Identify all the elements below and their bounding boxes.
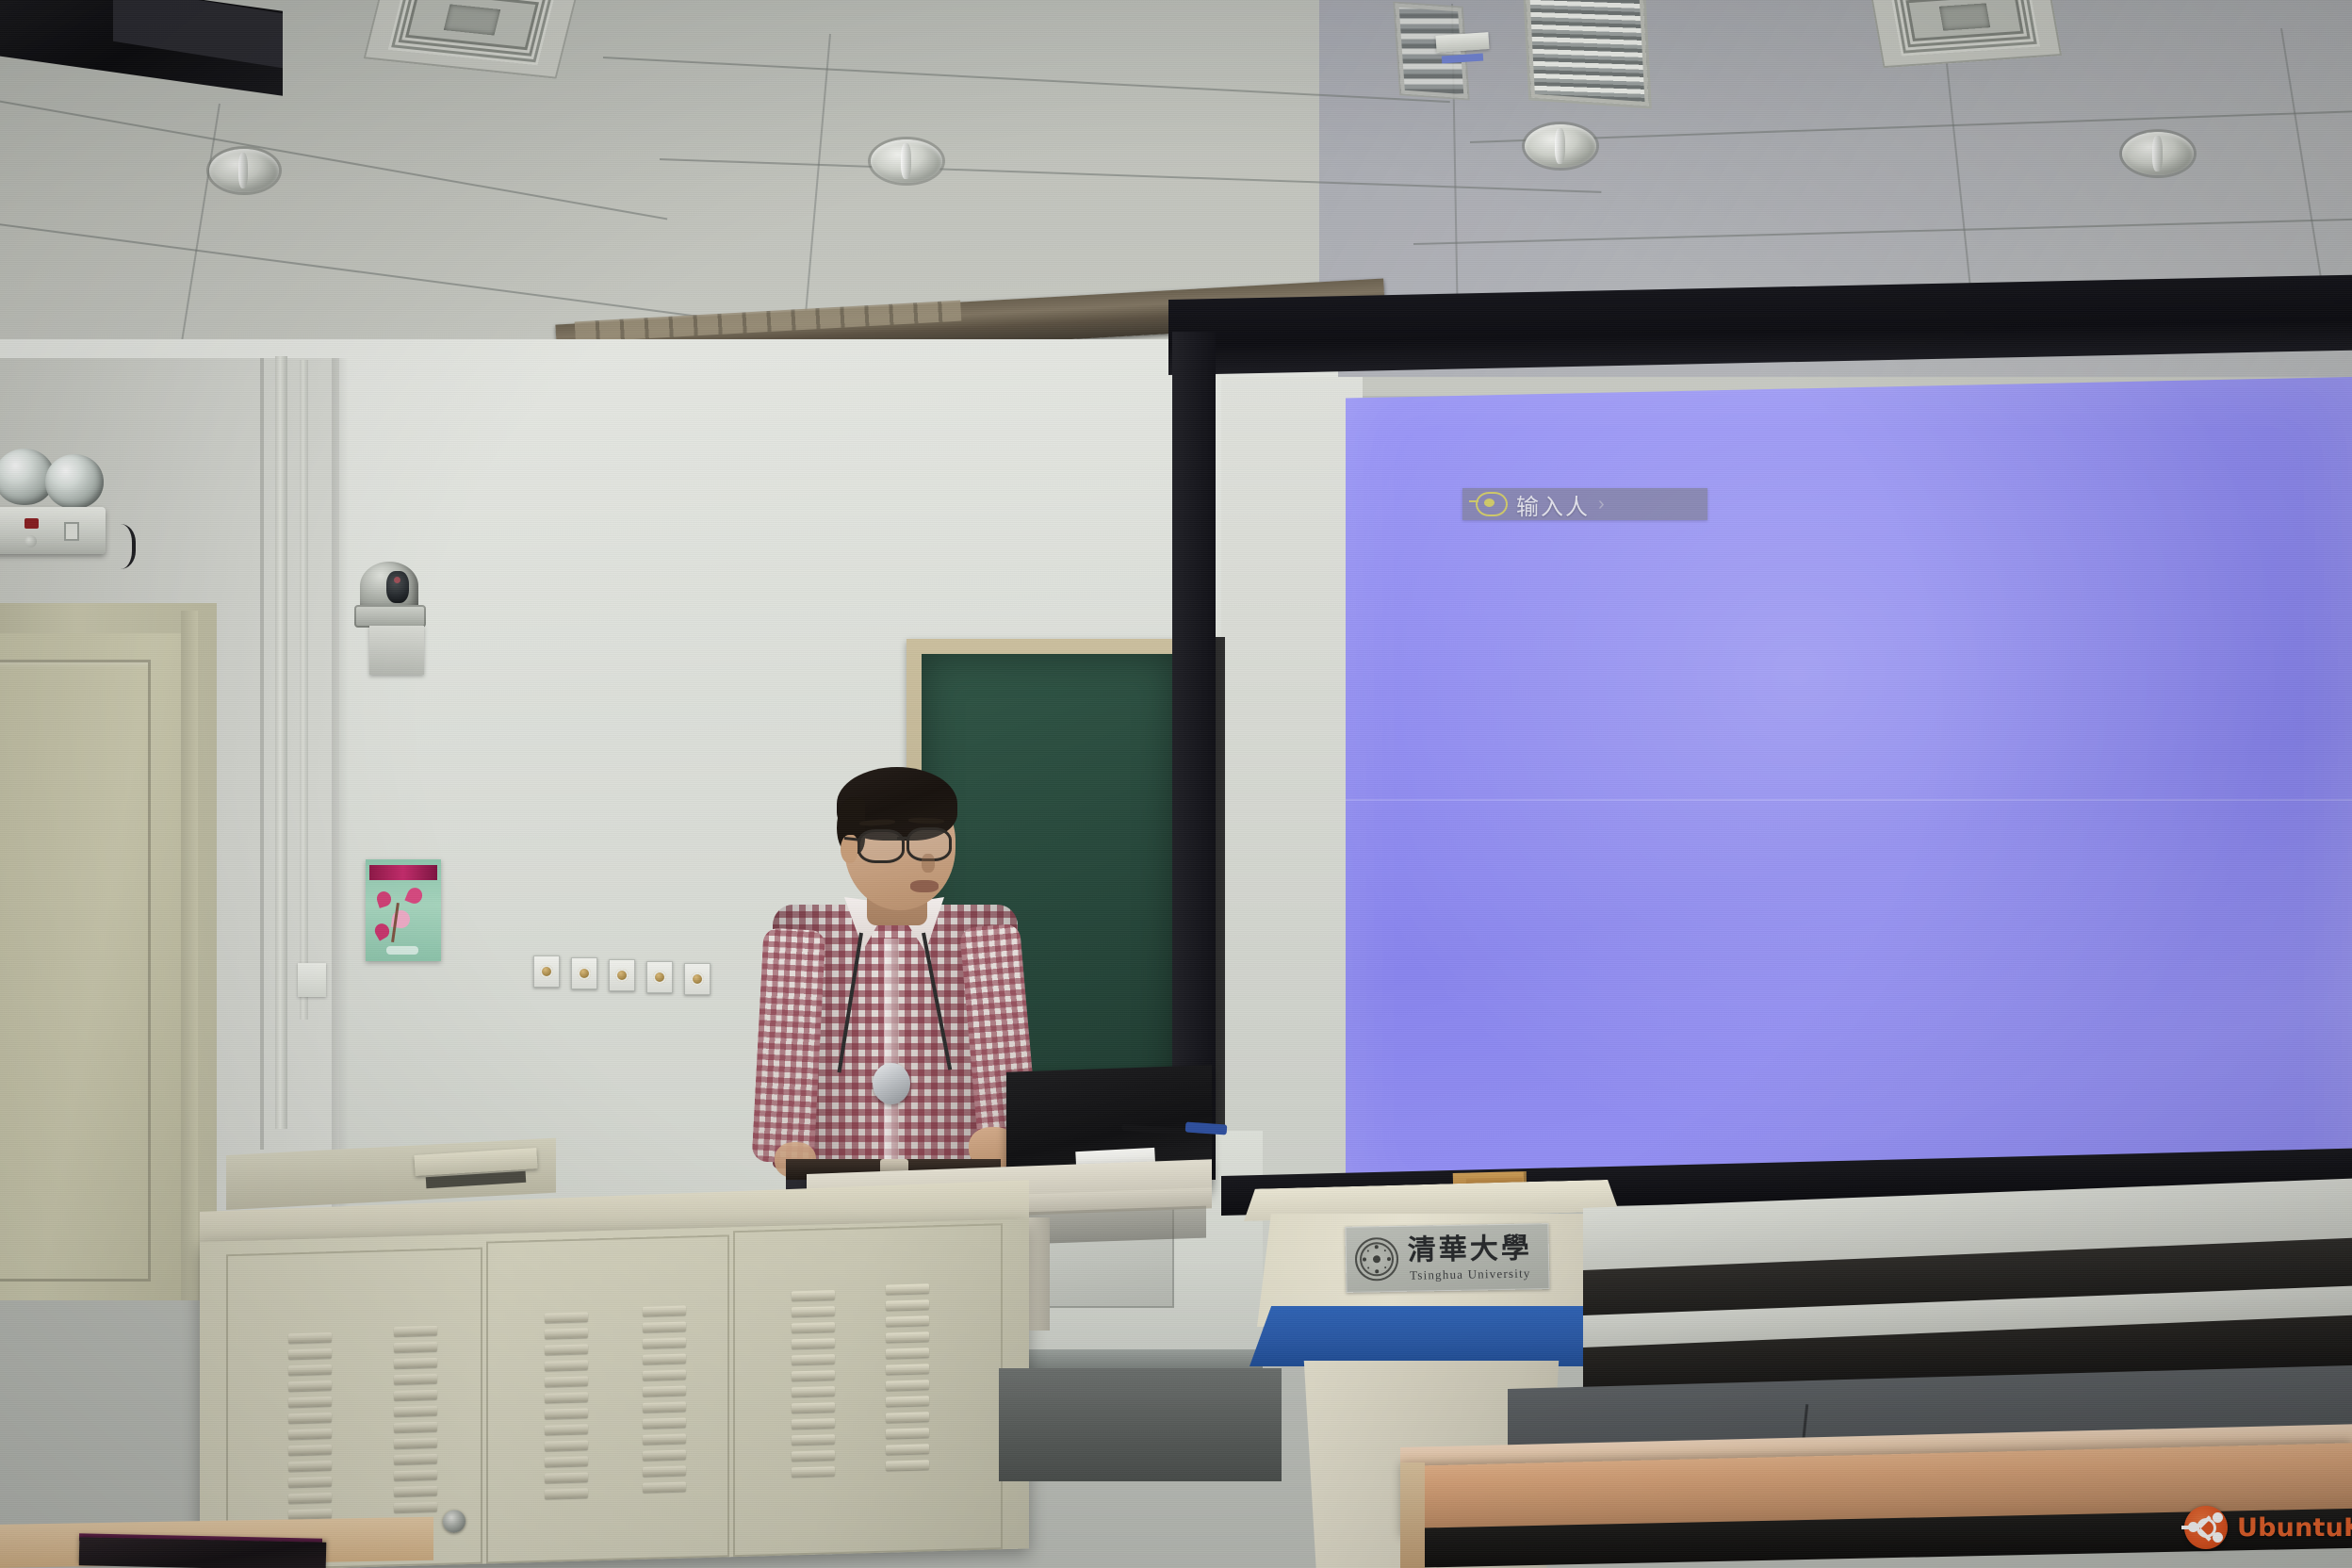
ptz-camera-wall-bracket <box>369 626 424 675</box>
cabinet-vent-column <box>545 1312 588 1498</box>
poster-flower <box>404 886 424 906</box>
poster-flower <box>372 921 392 940</box>
ime-status-bar[interactable]: 输入人 › <box>1462 488 1707 520</box>
tsinghua-plate-english-text: Tsinghua University <box>1410 1266 1531 1281</box>
ubuntu-logo-dot <box>2213 1512 2223 1523</box>
tsinghua-university-plate: 清華大學 Tsinghua University <box>1345 1223 1549 1293</box>
recessed-downlight-icon <box>209 149 279 192</box>
av-connector-plate[interactable] <box>533 955 560 988</box>
wall-poster <box>366 859 441 961</box>
wall-conduit-pipe <box>275 356 287 1129</box>
wall-trim-line <box>260 358 264 1150</box>
ime-keyboard-icon <box>1476 492 1508 516</box>
floor-left <box>999 1368 1282 1481</box>
front-laptop[interactable] <box>79 1537 327 1568</box>
av-connector-plate[interactable] <box>571 957 597 989</box>
ptz-camera-ir-indicator <box>394 577 400 583</box>
wall-conduit-pipe <box>300 360 308 1020</box>
recessed-downlight-icon <box>1525 124 1596 168</box>
av-connector-plate[interactable] <box>609 959 635 991</box>
ubuntu-logo-spoke <box>2181 1526 2193 1529</box>
poster-footer <box>386 946 418 955</box>
presenter-glasses-bridge <box>897 837 908 840</box>
ubuntu-logo-dot <box>2213 1532 2223 1543</box>
emergency-light-power-cable <box>98 524 136 569</box>
emergency-light-led-icon <box>24 518 39 529</box>
av-connector-plate[interactable] <box>646 961 673 993</box>
emergency-light-test-button[interactable] <box>24 535 37 547</box>
louvered-return-vent-icon <box>1525 0 1648 106</box>
av-equipment-cabinet[interactable] <box>200 1218 1029 1568</box>
recessed-downlight-icon <box>871 139 942 183</box>
ime-caret-icon: › <box>1598 494 1605 515</box>
presenter-mouth <box>910 880 939 892</box>
poster-title-band <box>369 865 437 880</box>
lectern-blue-band <box>1249 1306 1613 1366</box>
ubuntukylin-brand-text: UbuntuKylin <box>2237 1513 2352 1543</box>
tsinghua-plate-chinese-text: 清華大學 <box>1408 1234 1533 1265</box>
door-frame-edge <box>181 611 198 1300</box>
tsinghua-seal-icon <box>1355 1237 1399 1282</box>
cabinet-vent-column <box>643 1306 686 1493</box>
cabinet-vent-column <box>394 1326 437 1512</box>
cabinet-vent-column <box>792 1290 835 1477</box>
photo-scene: 输入人 › <box>0 0 2352 1568</box>
cabinet-vent-column <box>288 1332 332 1519</box>
cabinet-door[interactable] <box>733 1223 1003 1557</box>
light-switch-plate[interactable] <box>298 963 326 997</box>
projection-screen[interactable]: 输入人 › <box>1346 377 2352 1225</box>
emergency-light-switch[interactable] <box>64 522 79 541</box>
presenter-glasses-left-lens <box>857 829 905 863</box>
cabinet-vent-column <box>886 1283 929 1470</box>
ubuntukylin-watermark: UbuntuKylin <box>2184 1506 2352 1549</box>
presenter-nose-shadow <box>922 854 935 873</box>
instructor-desk-leg <box>1029 1217 1050 1331</box>
projection-screen-left-frame <box>1172 332 1216 1180</box>
classroom-door-panel-inset <box>0 660 151 1282</box>
cabinet-door[interactable] <box>486 1234 729 1563</box>
ime-status-text: 输入人 <box>1516 488 1590 521</box>
av-connector-plate[interactable] <box>684 963 710 995</box>
poster-flower <box>375 890 393 908</box>
presenter-left-arm <box>752 927 826 1164</box>
emergency-light-body <box>0 507 106 554</box>
projection-screen-seam <box>1346 799 2352 801</box>
student-desk-side-panel <box>1400 1462 1425 1568</box>
ptz-camera-base <box>354 605 426 628</box>
cabinet-lock-icon[interactable] <box>443 1510 465 1533</box>
ubuntu-circle-of-friends-icon <box>2184 1506 2228 1549</box>
recessed-downlight-icon <box>2122 132 2194 175</box>
presenter-shirt-placket <box>884 939 899 1168</box>
presenter-badge <box>873 1063 910 1104</box>
